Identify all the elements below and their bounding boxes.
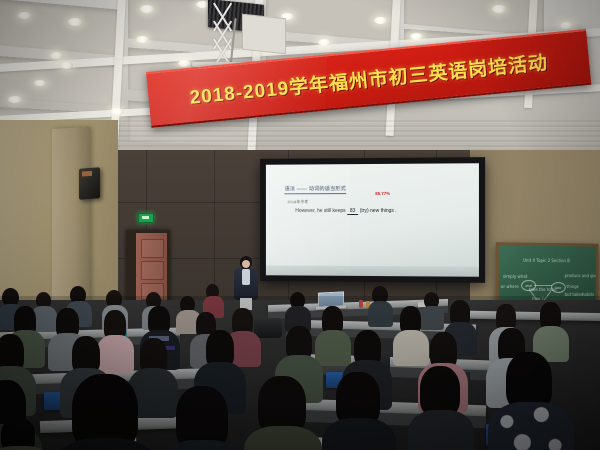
wall-speaker-icon	[79, 167, 100, 199]
recessed-light	[34, 80, 46, 86]
projection-screen-frame: 语法 —— 动词的适当形式 2018年中考 85.77% However, he…	[260, 157, 485, 283]
standing-presenter	[233, 256, 259, 310]
recessed-light	[8, 96, 22, 103]
mindmap-node: how	[551, 282, 566, 293]
slide-content: 语法 —— 动词的适当形式 2018年中考 85.77% However, he…	[285, 177, 468, 215]
ceiling-ac-panel	[242, 14, 286, 55]
sentence-before: However, he still keeps	[295, 208, 345, 214]
classroom-photo-scene: 2018-2019学年福州市初三英语岗培活动 语法 —— 动词的适当形式 201…	[0, 0, 600, 450]
recessed-light	[318, 39, 331, 46]
recessed-light	[140, 5, 154, 13]
sentence-blank: 83	[347, 208, 358, 215]
recessed-light	[560, 22, 573, 29]
blackboard-heading: Unit 4 Topic 2 Section B	[523, 258, 570, 263]
blackboard-note: but takes	[565, 292, 583, 297]
presenter-shirt	[242, 269, 250, 285]
exit-sign-icon	[138, 213, 154, 223]
recessed-light	[410, 33, 423, 40]
blackboard-note: produce and give	[565, 273, 599, 278]
sentence-after: (try) new things .	[360, 208, 397, 214]
bag	[254, 318, 282, 338]
recessed-light	[492, 5, 506, 13]
slide-sentence: However, he still keeps 83 (try) new thi…	[295, 208, 468, 214]
recessed-light	[68, 18, 82, 26]
blackboard-note: simply what	[503, 274, 527, 279]
slide-percentage: 85.77%	[375, 191, 390, 196]
presenter-face	[242, 260, 250, 268]
recessed-light	[18, 12, 31, 19]
slide-source-label: 2018年中考	[288, 200, 469, 205]
blackboard-note: habits	[582, 292, 594, 297]
projection-screen: 语法 —— 动词的适当形式 2018年中考 85.77% However, he…	[266, 163, 479, 277]
recessed-light	[50, 52, 63, 59]
slide-footer-bar	[266, 265, 479, 276]
water-bottle	[359, 300, 363, 308]
blackboard-note: things	[567, 284, 579, 289]
slide-title: 语法 —— 动词的适当形式	[285, 186, 346, 195]
recessed-light	[136, 36, 149, 43]
recessed-light	[110, 108, 124, 115]
recessed-light	[178, 60, 191, 67]
recessed-light	[60, 62, 73, 69]
recessed-light	[374, 17, 387, 24]
ceiling-coffer	[0, 0, 120, 56]
blackboard-note: or where	[501, 284, 519, 289]
wall-pillar	[52, 127, 90, 314]
